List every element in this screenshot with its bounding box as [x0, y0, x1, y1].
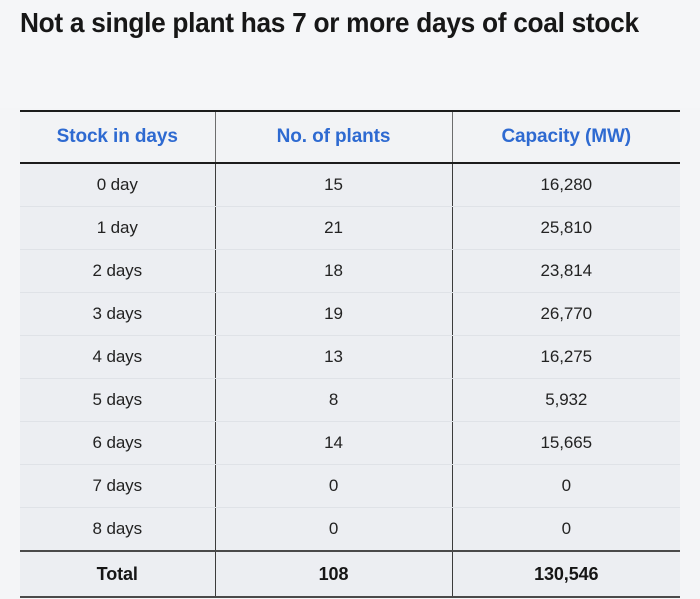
- cell-stock-in-days: 6 days: [20, 422, 215, 465]
- table-row: 1 day 21 25,810: [20, 207, 680, 250]
- page-title: Not a single plant has 7 or more days of…: [20, 4, 639, 42]
- cell-capacity-mw: 5,932: [452, 379, 680, 422]
- cell-no-of-plants: 13: [215, 336, 452, 379]
- cell-stock-in-days: 2 days: [20, 250, 215, 293]
- table-row: 8 days 0 0: [20, 508, 680, 552]
- cell-stock-in-days: 7 days: [20, 465, 215, 508]
- table-row: 2 days 18 23,814: [20, 250, 680, 293]
- cell-no-of-plants: 8: [215, 379, 452, 422]
- cell-no-of-plants: 14: [215, 422, 452, 465]
- total-no-of-plants: 108: [215, 551, 452, 597]
- table-header-row: Stock in days No. of plants Capacity (MW…: [20, 111, 680, 163]
- cell-capacity-mw: 0: [452, 508, 680, 552]
- cell-stock-in-days: 1 day: [20, 207, 215, 250]
- cell-stock-in-days: 0 day: [20, 163, 215, 207]
- cell-no-of-plants: 18: [215, 250, 452, 293]
- cell-stock-in-days: 3 days: [20, 293, 215, 336]
- cell-no-of-plants: 19: [215, 293, 452, 336]
- cell-capacity-mw: 25,810: [452, 207, 680, 250]
- table-page: Not a single plant has 7 or more days of…: [0, 0, 700, 599]
- cell-stock-in-days: 4 days: [20, 336, 215, 379]
- cell-stock-in-days: 5 days: [20, 379, 215, 422]
- table-header: Stock in days No. of plants Capacity (MW…: [20, 111, 680, 163]
- cell-no-of-plants: 0: [215, 508, 452, 552]
- table-row: 0 day 15 16,280: [20, 163, 680, 207]
- table-total-row: Total 108 130,546: [20, 551, 680, 597]
- table-footer: Total 108 130,546: [20, 551, 680, 597]
- total-label: Total: [20, 551, 215, 597]
- column-header-capacity-mw: Capacity (MW): [452, 111, 680, 163]
- coal-stock-table-container: Stock in days No. of plants Capacity (MW…: [20, 110, 680, 598]
- column-header-no-of-plants: No. of plants: [215, 111, 452, 163]
- coal-stock-table: Stock in days No. of plants Capacity (MW…: [20, 110, 680, 598]
- cell-capacity-mw: 15,665: [452, 422, 680, 465]
- cell-capacity-mw: 16,280: [452, 163, 680, 207]
- cell-no-of-plants: 0: [215, 465, 452, 508]
- cell-capacity-mw: 23,814: [452, 250, 680, 293]
- cell-capacity-mw: 16,275: [452, 336, 680, 379]
- cell-no-of-plants: 21: [215, 207, 452, 250]
- table-row: 3 days 19 26,770: [20, 293, 680, 336]
- table-row: 7 days 0 0: [20, 465, 680, 508]
- cell-no-of-plants: 15: [215, 163, 452, 207]
- table-row: 4 days 13 16,275: [20, 336, 680, 379]
- table-body: 0 day 15 16,280 1 day 21 25,810 2 days 1…: [20, 163, 680, 551]
- title-area: Not a single plant has 7 or more days of…: [0, 0, 700, 108]
- table-row: 6 days 14 15,665: [20, 422, 680, 465]
- table-row: 5 days 8 5,932: [20, 379, 680, 422]
- column-header-stock-in-days: Stock in days: [20, 111, 215, 163]
- cell-capacity-mw: 26,770: [452, 293, 680, 336]
- total-capacity-mw: 130,546: [452, 551, 680, 597]
- cell-stock-in-days: 8 days: [20, 508, 215, 552]
- cell-capacity-mw: 0: [452, 465, 680, 508]
